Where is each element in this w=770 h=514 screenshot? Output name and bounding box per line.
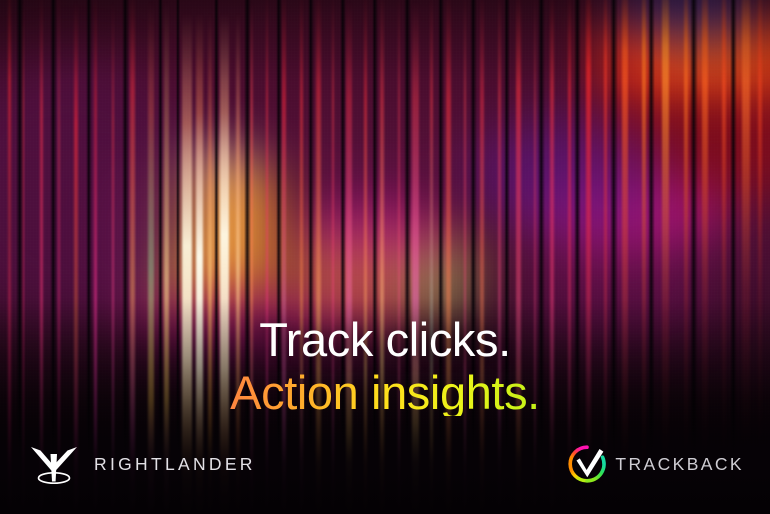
trackback-wordmark: TRACKBACK <box>615 454 744 475</box>
promo-banner: Track clicks. Action insights. RIGHTLAND… <box>0 0 770 514</box>
headline-line-accent: Action insights. <box>0 369 770 416</box>
trackback-check-ring-icon <box>566 443 608 485</box>
rightlander-logo[interactable]: RIGHTLANDER <box>28 414 256 514</box>
rightlander-wordmark: RIGHTLANDER <box>94 454 256 475</box>
headline-block: Track clicks. Action insights. <box>0 316 770 416</box>
headline-line-primary: Track clicks. <box>0 316 770 363</box>
rightlander-chevron-icon <box>28 441 80 487</box>
trackback-logo[interactable]: TRACKBACK <box>566 414 744 514</box>
